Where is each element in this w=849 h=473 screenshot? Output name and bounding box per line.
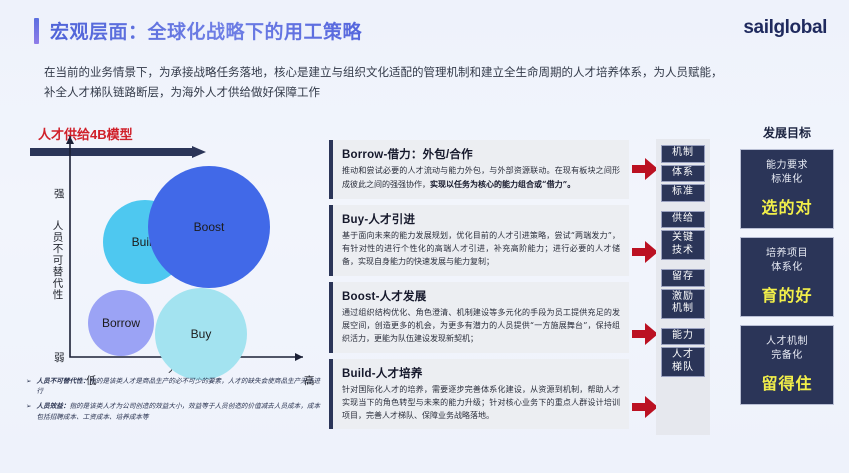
goal-card-select[interactable]: 能力要求 标准化 选的对 — [740, 149, 834, 229]
chip-group-retention: 留存 激励 机制 — [661, 269, 705, 319]
panel-body: 通过组织结构优化、角色澄清、机制建设等多元化的手段为员工提供充足的发展空间，创造… — [342, 307, 620, 346]
chip-group-capability: 能力 人才 梯队 — [661, 328, 705, 378]
goal-keyword: 选的对 — [745, 194, 829, 218]
bubble-buy[interactable]: Buy — [155, 288, 247, 380]
development-goal-column: 发展目标 能力要求 标准化 选的对 培养项目 体系化 育的好 人才机制 完备化 … — [740, 124, 834, 413]
footnote-term: 人员效益： — [37, 402, 70, 410]
capability-chip-column: 机制 体系 标准 供给 关键 技术 留存 激励 机制 能力 人才 梯队 — [656, 139, 710, 435]
chip[interactable]: 标准 — [661, 184, 705, 202]
y-tick-high: 强 — [54, 186, 65, 201]
goal-card-develop[interactable]: 培养项目 体系化 育的好 — [740, 237, 834, 317]
panel-title: Borrow-借力：外包/合作 — [342, 146, 620, 162]
goal-column-header: 发展目标 — [740, 124, 834, 141]
right-arrow-icon — [632, 322, 658, 346]
panel-body: 针对国际化人才的培养，需要逐步完善体系化建设，从资源到机制，帮助人才实现当下的角… — [342, 384, 620, 423]
footnote-list: ➢ 人员不可替代性：指的是该类人才是商品生产的必不可少的要素，人才的缺失会使商品… — [26, 376, 326, 427]
goal-card-retain[interactable]: 人才机制 完备化 留得住 — [740, 325, 834, 405]
list-item: ➢ 人员效益：指的是该类人才为公司创造的效益大小，效益等于人员创造的价值减去人员… — [26, 401, 326, 421]
slide-root: 宏观层面：全球化战略下的用工策略 sailglobal 在当前的业务情景下，为承… — [0, 0, 849, 473]
panel-body: 基于面向未来的能力发展规划，优化目前的人才引进策略，尝试“两端发力”，有针对性的… — [342, 230, 620, 269]
strategy-panel-list: Borrow-借力：外包/合作 推动和尝试必要的人才流动与能力外包，与外部资源联… — [329, 140, 629, 435]
chip-group-supply: 供给 关键 技术 — [661, 211, 705, 261]
bubble-boost[interactable]: Boost — [148, 166, 270, 288]
chip[interactable]: 体系 — [661, 165, 705, 183]
page-title: 宏观层面：全球化战略下的用工策略 — [34, 17, 362, 44]
goal-keyword: 育的好 — [745, 282, 829, 306]
panel-body-emphasis: 实现以任务为核心的能力组合或“借力”。 — [430, 179, 575, 189]
bullet-arrow-icon: ➢ — [26, 401, 32, 421]
chip[interactable]: 能力 — [661, 328, 705, 346]
y-axis-label: 人员不可替代性 — [52, 220, 63, 301]
goal-keyword: 留得住 — [745, 370, 829, 394]
chip[interactable]: 机制 — [661, 145, 705, 163]
chip[interactable]: 留存 — [661, 269, 705, 287]
panel-body: 推动和尝试必要的人才流动与能力外包，与外部资源联动。在现有板块之间形成彼此之间的… — [342, 165, 620, 192]
bullet-arrow-icon: ➢ — [26, 376, 32, 396]
title-accent-bar — [34, 18, 39, 44]
panel-title: Build-人才培养 — [342, 365, 620, 381]
footnote-text: 指的是该类人才为公司创造的效益大小，效益等于人员创造的价值减去人员成本，成本包括… — [37, 402, 321, 420]
right-arrow-icon — [632, 157, 658, 181]
right-arrow-icon — [632, 240, 658, 264]
goal-subtitle: 人才机制 完备化 — [745, 335, 829, 362]
panel-title: Boost-人才发展 — [342, 288, 620, 304]
chip[interactable]: 激励 机制 — [661, 289, 705, 319]
footnote-term: 人员不可替代性： — [37, 377, 90, 385]
panel-buy[interactable]: Buy-人才引进 基于面向未来的能力发展规划，优化目前的人才引进策略，尝试“两端… — [329, 205, 629, 276]
intro-paragraph: 在当前的业务情景下，为承接战略任务落地，核心是建立与组织文化适配的管理机制和建立… — [44, 62, 724, 102]
goal-subtitle: 培养项目 体系化 — [745, 247, 829, 274]
brand-logo: sailglobal — [743, 17, 827, 39]
panel-boost[interactable]: Boost-人才发展 通过组织结构优化、角色澄清、机制建设等多元化的手段为员工提… — [329, 282, 629, 353]
chip-group-mechanism: 机制 体系 标准 — [661, 145, 705, 202]
y-tick-low: 弱 — [54, 350, 65, 365]
page-title-text: 宏观层面：全球化战略下的用工策略 — [50, 17, 362, 44]
panel-build[interactable]: Build-人才培养 针对国际化人才的培养，需要逐步完善体系化建设，从资源到机制… — [329, 359, 629, 430]
chip[interactable]: 供给 — [661, 211, 705, 229]
goal-subtitle: 能力要求 标准化 — [745, 159, 829, 186]
right-arrow-icon — [632, 395, 658, 419]
panel-borrow[interactable]: Borrow-借力：外包/合作 推动和尝试必要的人才流动与能力外包，与外部资源联… — [329, 140, 629, 199]
chip[interactable]: 人才 梯队 — [661, 347, 705, 377]
bubble-borrow[interactable]: Borrow — [88, 290, 154, 356]
chip[interactable]: 关键 技术 — [661, 230, 705, 260]
list-item: ➢ 人员不可替代性：指的是该类人才是商品生产的必不可少的要素，人才的缺失会使商品… — [26, 376, 326, 396]
panel-title: Buy-人才引进 — [342, 211, 620, 227]
